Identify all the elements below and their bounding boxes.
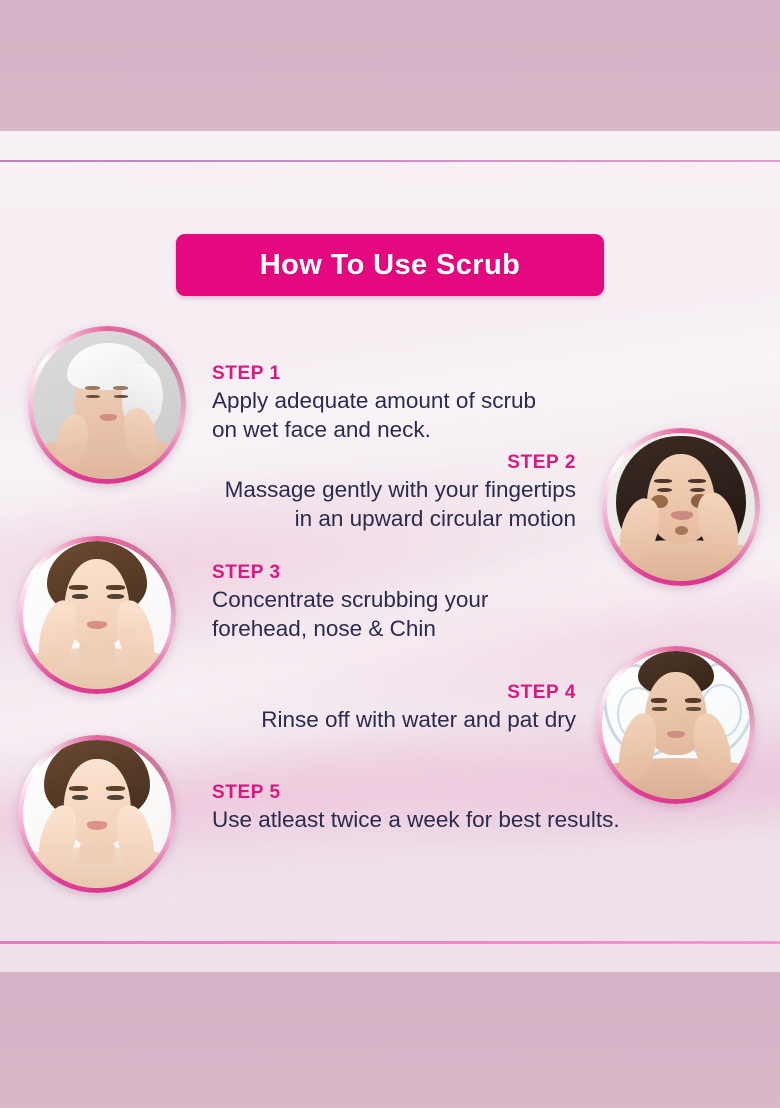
step-label-1: STEP 1 xyxy=(212,363,592,385)
step-label-3: STEP 3 xyxy=(212,562,582,584)
photo-inner-4 xyxy=(602,651,750,799)
photo-scene-2 xyxy=(607,433,755,581)
photo-inner-2 xyxy=(607,433,755,581)
photo-inner-5 xyxy=(23,740,171,888)
step-body-4: Rinse off with water and pat dry xyxy=(198,706,576,735)
page-title: How To Use Scrub xyxy=(260,249,520,282)
step-block-2: STEP 2 Massage gently with your fingerti… xyxy=(178,452,576,533)
step-photo-2 xyxy=(602,428,760,586)
photo-scene-1 xyxy=(33,331,181,479)
step-body-2: Massage gently with your fingertips in a… xyxy=(178,476,576,534)
photo-scene-3 xyxy=(23,541,171,689)
step-photo-3 xyxy=(18,536,176,694)
photo-scene-4 xyxy=(602,651,750,799)
photo-inner-1 xyxy=(33,331,181,479)
step-block-5: STEP 5 Use atleast twice a week for best… xyxy=(212,782,662,835)
bottom-divider-rule xyxy=(0,941,780,944)
how-to-use-scrub-infographic: How To Use Scrub xyxy=(0,0,780,1108)
step-body-1: Apply adequate amount of scrub on wet fa… xyxy=(212,387,592,445)
step-photo-5 xyxy=(18,735,176,893)
photo-scene-5 xyxy=(23,740,171,888)
top-border-band xyxy=(0,0,780,131)
step-label-4: STEP 4 xyxy=(198,682,576,704)
step-photo-1 xyxy=(28,326,186,484)
step-block-3: STEP 3 Concentrate scrubbing your forehe… xyxy=(212,562,582,643)
photo-inner-3 xyxy=(23,541,171,689)
step-body-5: Use atleast twice a week for best result… xyxy=(212,806,662,835)
step-body-3: Concentrate scrubbing your forehead, nos… xyxy=(212,586,582,644)
step-block-4: STEP 4 Rinse off with water and pat dry xyxy=(198,682,576,735)
step-label-5: STEP 5 xyxy=(212,782,662,804)
step-photo-4 xyxy=(597,646,755,804)
title-banner: How To Use Scrub xyxy=(176,234,604,296)
top-divider-rule xyxy=(0,160,780,162)
bottom-border-band xyxy=(0,972,780,1108)
step-label-2: STEP 2 xyxy=(178,452,576,474)
step-block-1: STEP 1 Apply adequate amount of scrub on… xyxy=(212,363,592,444)
